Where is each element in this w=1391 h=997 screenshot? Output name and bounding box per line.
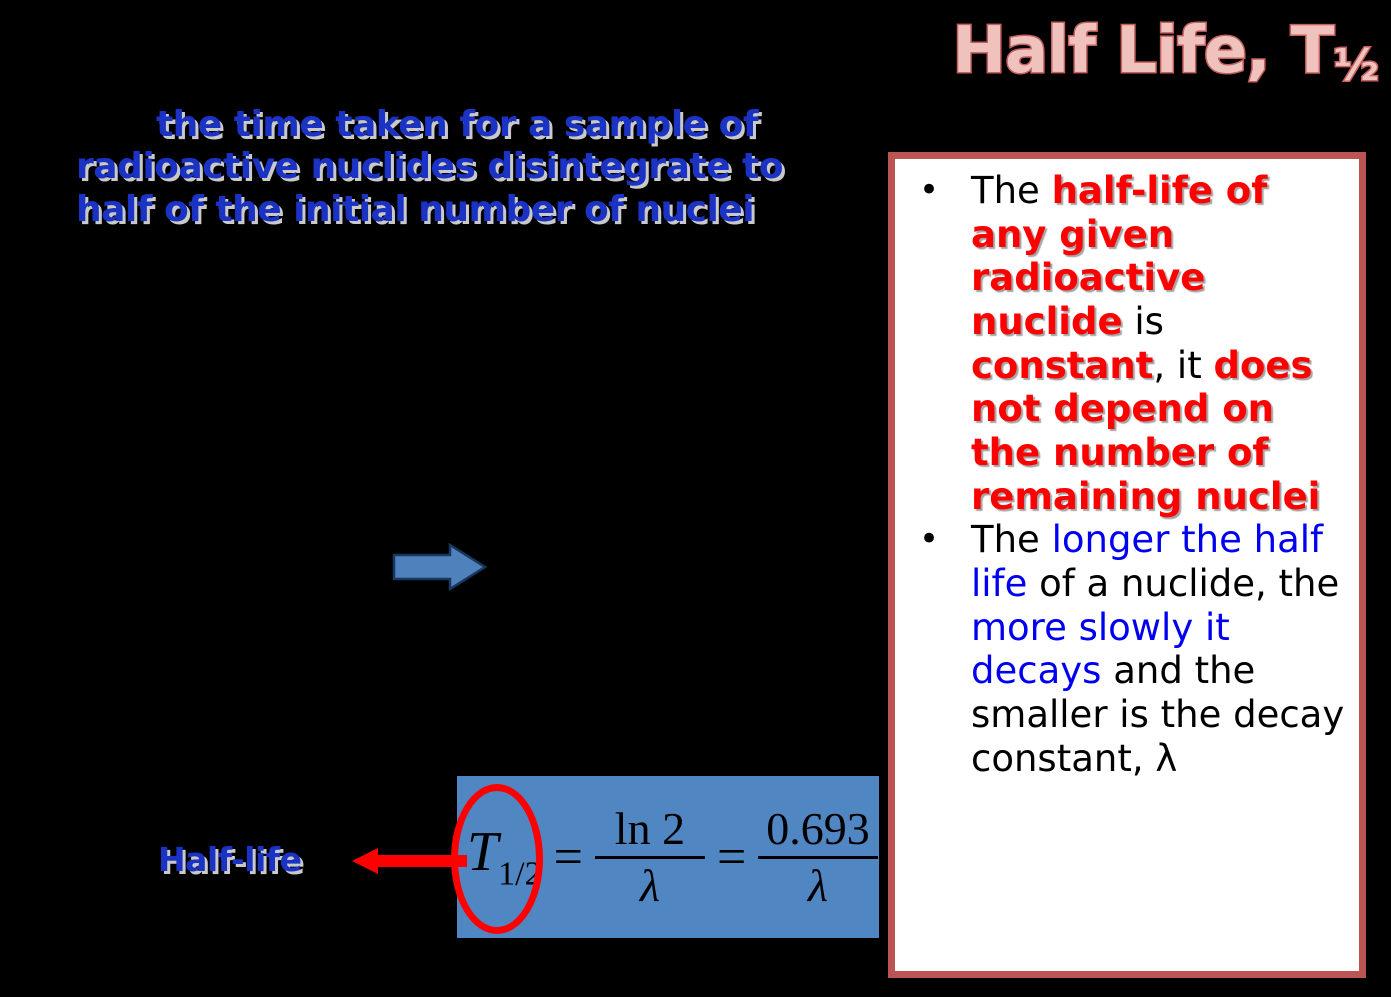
left-pointer-arrow-icon xyxy=(352,845,467,877)
page-title: Half Life, T½ xyxy=(952,18,1377,89)
definition-heading: the time taken for a sample of radioacti… xyxy=(76,104,866,231)
half-life-formula: T1/2 = ln 2 λ = 0.693 λ xyxy=(457,776,879,938)
bullet-1-seg-4: , it xyxy=(1153,344,1213,387)
bullet-2-seg-2: of a nuclide, the xyxy=(1027,562,1339,605)
bullet-1-text: The half-life of any given radioactive n… xyxy=(971,169,1345,518)
formula-fraction-2-numerator: 0.693 xyxy=(758,806,878,856)
definition-line-3: half of the initial number of nuclei xyxy=(76,189,866,231)
bullet-marker: • xyxy=(905,518,971,561)
formula-fraction-1-denominator: λ xyxy=(632,859,668,909)
bullet-2-seg-0: The xyxy=(971,518,1052,561)
definition-line-2: radioactive nuclides disintegrate to xyxy=(76,146,866,188)
bullet-1-seg-0: The xyxy=(971,169,1052,212)
definition-line-1: the time taken for a sample of xyxy=(76,104,866,146)
formula-fraction-1-numerator: ln 2 xyxy=(607,806,693,856)
formula-term-t-half: T1/2 xyxy=(467,820,542,893)
formula-term-subscript: 1/2 xyxy=(498,856,541,893)
formula-fraction-0693-lambda: 0.693 λ xyxy=(758,806,878,909)
half-life-formula-box: T1/2 = ln 2 λ = 0.693 λ xyxy=(457,776,879,938)
list-item: • The longer the half life of a nuclide,… xyxy=(905,518,1345,780)
notes-panel: • The half-life of any given radioactive… xyxy=(888,152,1366,978)
bullet-marker: • xyxy=(905,169,971,212)
page-title-subscript: ½ xyxy=(1333,40,1377,91)
formula-fraction-ln2-lambda: ln 2 λ xyxy=(595,806,705,909)
right-block-arrow-icon xyxy=(392,543,487,591)
list-item: • The half-life of any given radioactive… xyxy=(905,169,1345,518)
bullet-1-seg-2: is xyxy=(1123,300,1164,343)
bullet-1-seg-3: constant xyxy=(971,344,1153,387)
formula-term-symbol: T xyxy=(467,821,498,883)
formula-equals-2: = xyxy=(717,828,746,887)
bullet-2-text: The longer the half life of a nuclide, t… xyxy=(971,518,1345,780)
page-title-main: Half Life, T xyxy=(952,14,1333,88)
formula-equals-1: = xyxy=(554,828,583,887)
formula-fraction-2-denominator: λ xyxy=(800,859,836,909)
half-life-callout-label: Half-life xyxy=(158,840,302,879)
